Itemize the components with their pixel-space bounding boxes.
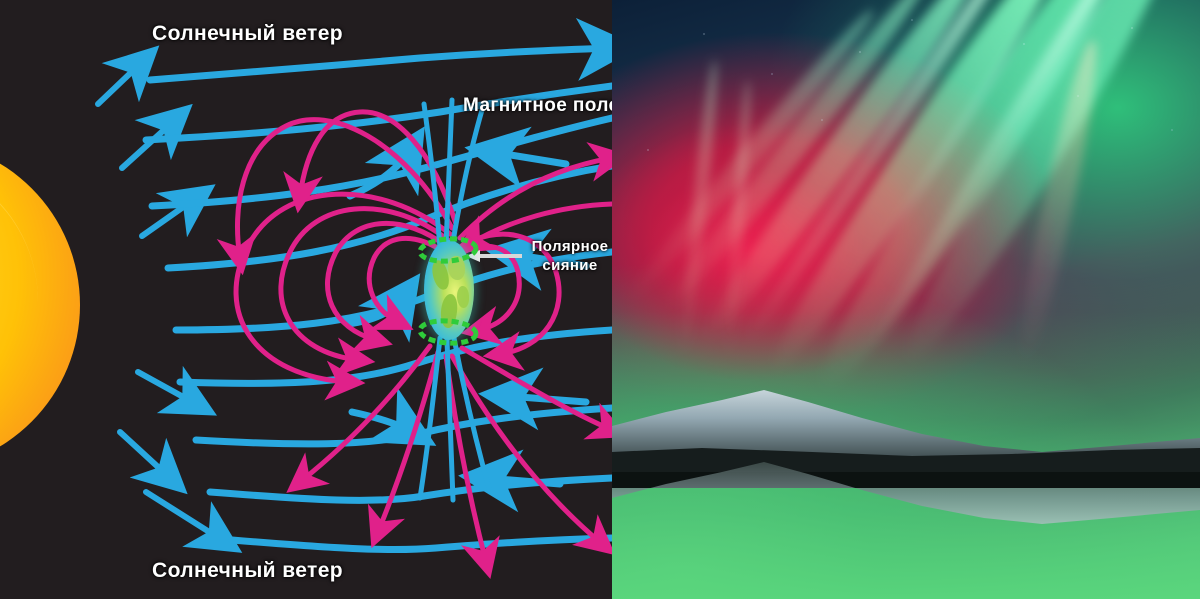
auroral-oval-overlay: [0, 0, 612, 599]
label-magnetic-field: Магнитное поле: [463, 95, 612, 117]
mountain-ridge: [612, 360, 1200, 599]
magnetosphere-diagram-panel: Солнечный ветер Солнечный ветер Магнитно…: [0, 0, 612, 599]
label-solar-wind-top: Солнечный ветер: [152, 22, 343, 46]
auroral-oval-south: [419, 319, 476, 345]
aurora-photograph-panel: [612, 0, 1200, 599]
label-aurora-line2: сияние: [542, 257, 597, 274]
aurora-magnetosphere-figure: Солнечный ветер Солнечный ветер Магнитно…: [0, 0, 1200, 599]
auroral-oval-north: [419, 237, 476, 263]
landscape: [612, 360, 1200, 599]
label-solar-wind-bottom: Солнечный ветер: [152, 559, 343, 583]
label-aurora: Полярное сияние: [527, 238, 612, 276]
label-aurora-line1: Полярное: [532, 238, 609, 255]
